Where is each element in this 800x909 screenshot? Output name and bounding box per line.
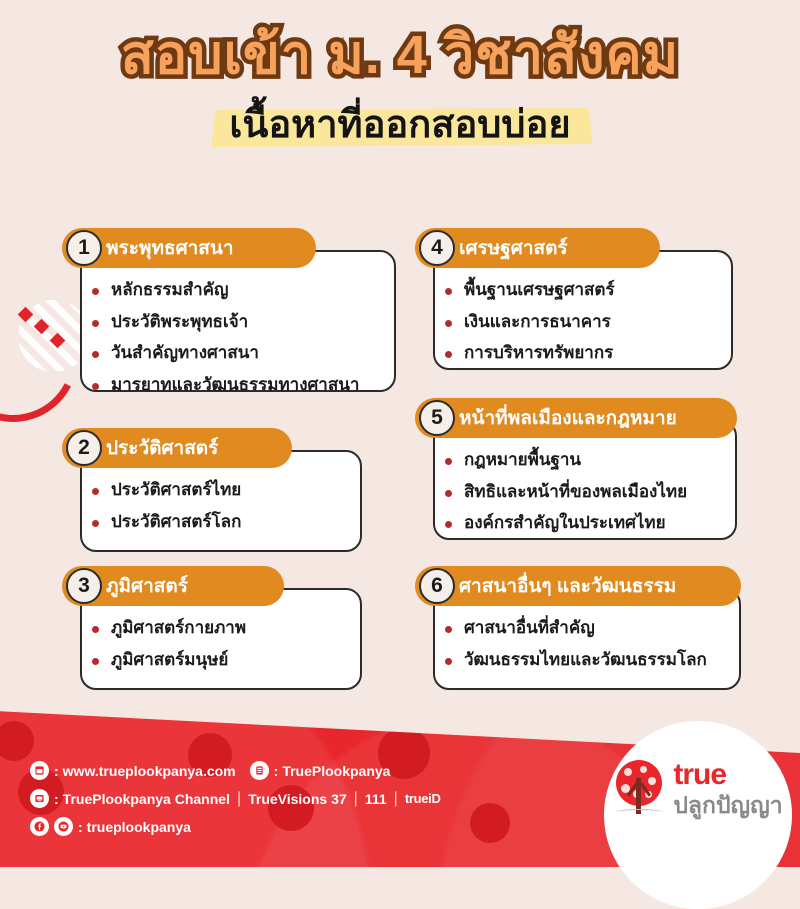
footer-line-social: : trueplookpanya xyxy=(30,817,441,836)
page-subtitle-wrapper: เนื้อหาที่ออกสอบบ่อย xyxy=(223,102,576,150)
list-item-label: การบริหารทรัพยากร xyxy=(464,341,613,366)
topic-card-1[interactable]: 1 พระพุทธศาสนา หลักธรรมสำคัญ ประวัติพระพ… xyxy=(62,228,396,392)
list-item: องค์กรสำคัญในประเทศไทย xyxy=(445,511,721,536)
bullet-icon xyxy=(92,288,99,295)
list-item: กฎหมายพื้นฐาน xyxy=(445,448,721,473)
colon-label: : xyxy=(274,763,279,779)
page-subtitle: เนื้อหาที่ออกสอบบ่อย xyxy=(223,102,576,150)
list-item-label: ประวัติพระพุทธเจ้า xyxy=(111,310,248,335)
footer-line-channel: : TruePlookpanya Channel | TrueVisions 3… xyxy=(30,789,441,808)
tree-logo-icon xyxy=(613,760,665,818)
facebook-icon[interactable] xyxy=(30,817,49,836)
topic-card-5[interactable]: 5 หน้าที่พลเมืองและกฎหมาย กฎหมายพื้นฐาน … xyxy=(415,398,737,540)
list-item-label: ประวัติศาสตร์โลก xyxy=(111,510,241,535)
separator: | xyxy=(237,790,241,808)
tv-monitor-icon xyxy=(30,789,49,808)
list-item-label: ภูมิศาสตร์กายภาพ xyxy=(111,616,246,641)
list-item-label: ภูมิศาสตร์มนุษย์ xyxy=(111,648,228,673)
bullet-icon xyxy=(92,320,99,327)
bullet-icon xyxy=(92,488,99,495)
bullet-icon xyxy=(445,351,452,358)
bullet-icon xyxy=(92,658,99,665)
list-item: วันสำคัญทางศาสนา xyxy=(92,341,380,366)
topic-card-board: 1 พระพุทธศาสนา หลักธรรมสำคัญ ประวัติพระพ… xyxy=(0,228,800,698)
list-item-label: วัฒนธรรมไทยและวัฒนธรรมโลก xyxy=(464,648,707,673)
truevisions-label: TrueVisions 37 xyxy=(248,791,347,807)
true-wordmark: true xyxy=(673,760,782,790)
youtube-icon[interactable] xyxy=(54,817,73,836)
line-app-icon xyxy=(250,761,269,780)
card-number-badge: 2 xyxy=(66,430,102,466)
bullet-icon xyxy=(92,626,99,633)
list-item: ศาสนาอื่นที่สำคัญ xyxy=(445,616,725,641)
bullet-icon xyxy=(92,351,99,358)
card-header: 2 ประวัติศาสตร์ xyxy=(62,428,292,468)
card-title: ภูมิศาสตร์ xyxy=(106,571,188,601)
card-header: 6 ศาสนาอื่นๆ และวัฒนธรรม xyxy=(415,566,741,606)
list-item-label: วันสำคัญทางศาสนา xyxy=(111,341,259,366)
list-item: วัฒนธรรมไทยและวัฒนธรรมโลก xyxy=(445,648,725,673)
list-item-label: เงินและการธนาคาร xyxy=(464,310,611,335)
bullet-icon xyxy=(445,658,452,665)
list-item: ประวัติศาสตร์โลก xyxy=(92,510,346,535)
list-item: พื้นฐานเศรษฐศาสตร์ xyxy=(445,278,717,303)
list-item: มารยาทและวัฒนธรรมทางศาสนา xyxy=(92,373,380,398)
separator: | xyxy=(394,790,398,808)
list-item: ภูมิศาสตร์กายภาพ xyxy=(92,616,346,641)
card-header: 5 หน้าที่พลเมืองและกฎหมาย xyxy=(415,398,737,438)
colon-label: : xyxy=(54,763,59,779)
social-handle[interactable]: trueplookpanya xyxy=(87,819,191,835)
channel-number: 111 xyxy=(365,791,387,807)
bullet-icon xyxy=(445,288,452,295)
website-url[interactable]: www.trueplookpanya.com xyxy=(63,763,236,779)
list-item-label: ประวัติศาสตร์ไทย xyxy=(111,478,241,503)
logo-wordmark: true ปลูกปัญญา xyxy=(673,760,782,818)
colon-label: : xyxy=(54,791,59,807)
card-number-badge: 4 xyxy=(419,230,455,266)
card-header: 1 พระพุทธศาสนา xyxy=(62,228,316,268)
list-item-label: พื้นฐานเศรษฐศาสตร์ xyxy=(464,278,615,303)
page-title: สอบเข้า ม. 4 วิชาสังคม xyxy=(0,24,800,88)
trueid-logo-label[interactable]: trueiD xyxy=(405,791,441,806)
bullet-icon xyxy=(445,320,452,327)
list-item: ภูมิศาสตร์มนุษย์ xyxy=(92,648,346,673)
bullet-icon xyxy=(445,626,452,633)
brand-handle[interactable]: TruePlookpanya xyxy=(282,763,390,779)
footer-contact-block: : www.trueplookpanya.com : TruePlookpany… xyxy=(30,761,441,845)
browser-icon xyxy=(30,761,49,780)
flask-watermark-icon xyxy=(470,803,510,843)
topic-card-6[interactable]: 6 ศาสนาอื่นๆ และวัฒนธรรม ศาสนาอื่นที่สำค… xyxy=(415,566,741,690)
card-header: 4 เศรษฐศาสตร์ xyxy=(415,228,660,268)
footer-line-website: : www.trueplookpanya.com : TruePlookpany… xyxy=(30,761,441,780)
card-number-badge: 5 xyxy=(419,400,455,436)
brand-logo[interactable]: true ปลูกปัญญา xyxy=(604,721,792,909)
bullet-icon xyxy=(445,458,452,465)
list-item-label: หลักธรรมสำคัญ xyxy=(111,278,229,303)
card-title: พระพุทธศาสนา xyxy=(106,233,234,263)
card-number-badge: 6 xyxy=(419,568,455,604)
page-header: สอบเข้า ม. 4 วิชาสังคม เนื้อหาที่ออกสอบบ… xyxy=(0,24,800,149)
list-item: เงินและการธนาคาร xyxy=(445,310,717,335)
colon-label: : xyxy=(78,819,83,835)
bullet-icon xyxy=(445,490,452,497)
list-item-label: มารยาทและวัฒนธรรมทางศาสนา xyxy=(111,373,359,398)
list-item: การบริหารทรัพยากร xyxy=(445,341,717,366)
bullet-icon xyxy=(445,521,452,528)
card-number-badge: 1 xyxy=(66,230,102,266)
list-item-label: องค์กรสำคัญในประเทศไทย xyxy=(464,511,666,536)
list-item: ประวัติศาสตร์ไทย xyxy=(92,478,346,503)
list-item-label: ศาสนาอื่นที่สำคัญ xyxy=(464,616,595,641)
topic-card-4[interactable]: 4 เศรษฐศาสตร์ พื้นฐานเศรษฐศาสตร์ เงินและ… xyxy=(415,228,733,370)
list-item: หลักธรรมสำคัญ xyxy=(92,278,380,303)
topic-card-2[interactable]: 2 ประวัติศาสตร์ ประวัติศาสตร์ไทย ประวัติ… xyxy=(62,428,362,552)
bullet-icon xyxy=(92,383,99,390)
card-number-badge: 3 xyxy=(66,568,102,604)
card-title: หน้าที่พลเมืองและกฎหมาย xyxy=(459,403,677,433)
card-title: ศาสนาอื่นๆ และวัฒนธรรม xyxy=(459,571,676,601)
logo-inner: true ปลูกปัญญา xyxy=(613,760,782,818)
list-item: สิทธิและหน้าที่ของพลเมืองไทย xyxy=(445,480,721,505)
list-item: ประวัติพระพุทธเจ้า xyxy=(92,310,380,335)
bullet-icon xyxy=(92,520,99,527)
tree-ground-line xyxy=(615,809,663,816)
card-title: ประวัติศาสตร์ xyxy=(106,433,218,463)
channel-name[interactable]: TruePlookpanya Channel xyxy=(63,791,230,807)
list-item-label: สิทธิและหน้าที่ของพลเมืองไทย xyxy=(464,480,687,505)
topic-card-3[interactable]: 3 ภูมิศาสตร์ ภูมิศาสตร์กายภาพ ภูมิศาสตร์… xyxy=(62,566,362,690)
card-header: 3 ภูมิศาสตร์ xyxy=(62,566,284,606)
plookpanya-wordmark: ปลูกปัญญา xyxy=(673,792,782,818)
card-title: เศรษฐศาสตร์ xyxy=(459,233,568,263)
separator: | xyxy=(354,790,358,808)
list-item-label: กฎหมายพื้นฐาน xyxy=(464,448,581,473)
